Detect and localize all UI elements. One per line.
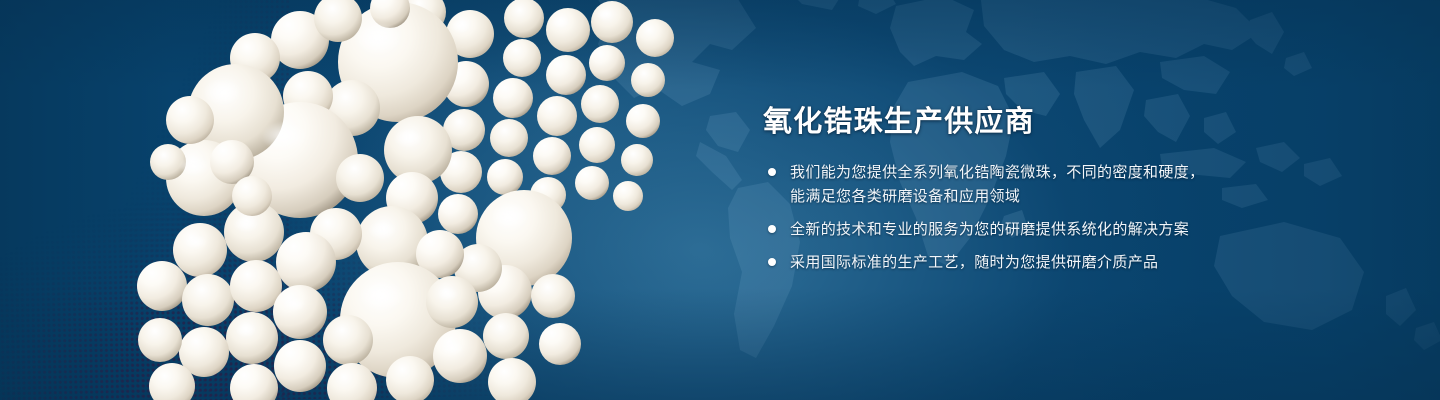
banner-text-block: 氧化锆珠生产供应商 我们能为您提供全系列氧化锆陶瓷微珠，不同的密度和硬度， 能满… xyxy=(763,104,1283,274)
list-item-line-1: 我们能为您提供全系列氧化锆陶瓷微珠，不同的密度和硬度， xyxy=(790,163,1204,181)
page-title: 氧化锆珠生产供应商 xyxy=(763,104,1283,138)
bullet-dot-icon xyxy=(768,168,776,176)
list-item-line-1: 全新的技术和专业的服务为您的研磨提供系统化的解决方案 xyxy=(790,220,1189,238)
list-item: 全新的技术和专业的服务为您的研磨提供系统化的解决方案 xyxy=(763,217,1283,241)
feature-list: 我们能为您提供全系列氧化锆陶瓷微珠，不同的密度和硬度， 能满足您各类研磨设备和应… xyxy=(763,160,1283,274)
list-item: 采用国际标准的生产工艺，随时为您提供研磨介质产品 xyxy=(763,250,1283,274)
zirconia-beads-image xyxy=(0,0,760,400)
bullet-dot-icon xyxy=(768,225,776,233)
hero-banner: 氧化锆珠生产供应商 我们能为您提供全系列氧化锆陶瓷微珠，不同的密度和硬度， 能满… xyxy=(0,0,1440,400)
bullet-dot-icon xyxy=(768,258,776,266)
list-item-line-1: 采用国际标准的生产工艺，随时为您提供研磨介质产品 xyxy=(790,253,1158,271)
list-item-line-2: 能满足您各类研磨设备和应用领域 xyxy=(790,184,1283,208)
list-item: 我们能为您提供全系列氧化锆陶瓷微珠，不同的密度和硬度， 能满足您各类研磨设备和应… xyxy=(763,160,1283,208)
